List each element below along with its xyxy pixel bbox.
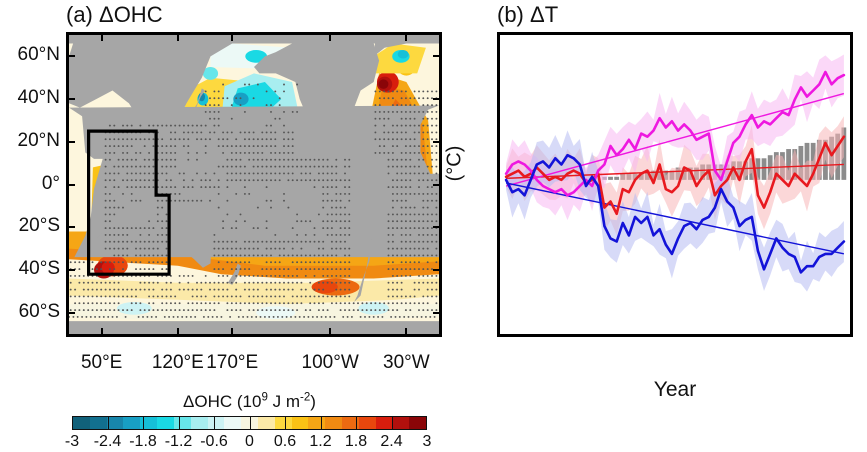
panel-b-title: (b) ΔT <box>497 2 558 28</box>
colorbar-segment <box>90 417 107 429</box>
colorbar-tick <box>179 416 180 430</box>
map-ytick <box>433 226 440 228</box>
colorbar-tick <box>108 416 109 430</box>
colorbar-segment <box>224 417 241 429</box>
colorbar-tick-label: -0.6 <box>200 433 228 451</box>
map-xtick <box>405 328 407 335</box>
map-xtick <box>405 34 407 41</box>
colorbar-title: ΔOHC (109 J m-2) <box>72 392 427 412</box>
colorbar-segment <box>275 417 292 429</box>
map-ytick-label: 20°S <box>0 215 60 237</box>
cb-title-prefix: ΔOHC (10 <box>183 392 261 411</box>
colorbar-tick-label: 0 <box>245 433 254 451</box>
map-ytick <box>433 312 440 314</box>
map-ytick <box>433 98 440 100</box>
map-xtick-label: 30°W <box>356 352 456 374</box>
colorbar-tick-label: 2.4 <box>380 433 402 451</box>
colorbar-tick <box>214 416 215 430</box>
map-ytick <box>68 226 75 228</box>
map-ytick <box>68 55 75 57</box>
colorbar-segment <box>174 417 191 429</box>
ohc-map-panel <box>66 32 442 337</box>
colorbar-tick <box>250 416 251 430</box>
map-ytick <box>433 141 440 143</box>
colorbar-segment <box>325 417 342 429</box>
map-xtick <box>101 328 103 335</box>
panel-b-ylabel: (°C) <box>443 146 466 182</box>
colorbar-segment <box>376 417 393 429</box>
panel-a-title: (a) ΔOHC <box>66 2 163 28</box>
map-ytick-label: 60°S <box>0 301 60 323</box>
colorbar-tick <box>356 416 357 430</box>
map-xtick <box>177 328 179 335</box>
colorbar-segment <box>292 417 309 429</box>
colorbar-segment <box>392 417 409 429</box>
panel-b-xlabel: Year <box>497 378 853 402</box>
colorbar-segment <box>359 417 376 429</box>
colorbar-segment <box>191 417 208 429</box>
colorbar-tick-label: -1.2 <box>165 433 193 451</box>
colorbar-segment <box>107 417 124 429</box>
colorbar-segment <box>409 417 426 429</box>
cb-title-exp2: -2 <box>300 391 310 403</box>
map-ytick <box>68 98 75 100</box>
map-ytick-label: 20°N <box>0 130 60 152</box>
colorbar-segment <box>258 417 275 429</box>
map-ytick-label: 0° <box>0 173 60 195</box>
map-ytick <box>68 312 75 314</box>
colorbar-tick-label: 1.2 <box>309 433 331 451</box>
cb-title-suffix: J m <box>268 392 300 411</box>
colorbar-tick-label: 3 <box>423 433 432 451</box>
map-ytick-label: 40°S <box>0 258 60 280</box>
map-xtick <box>177 34 179 41</box>
map-ytick <box>433 269 440 271</box>
colorbar-tick-label: -2.4 <box>94 433 122 451</box>
map-ytick-label: 60°N <box>0 44 60 66</box>
colorbar-segment <box>73 417 90 429</box>
map-ytick-label: 40°N <box>0 87 60 109</box>
map-ytick <box>433 184 440 186</box>
colorbar-tick <box>392 416 393 430</box>
map-ytick <box>68 141 75 143</box>
map-xtick <box>231 328 233 335</box>
map-xtick <box>231 34 233 41</box>
map-clip <box>69 35 439 334</box>
colorbar-tick-label: 1.8 <box>345 433 367 451</box>
map-xtick <box>101 34 103 41</box>
map-xtick-label: 170°E <box>182 352 282 374</box>
colorbar-tick-label: 0.6 <box>274 433 296 451</box>
colorbar-tick <box>285 416 286 430</box>
colorbar-segment <box>157 417 174 429</box>
map-ytick <box>433 55 440 57</box>
map-ytick <box>68 269 75 271</box>
map-xtick <box>329 34 331 41</box>
colorbar-tick <box>143 416 144 430</box>
cb-title-end: ) <box>310 392 316 411</box>
figure-root: (a) ΔOHC ΔOHC (109 J m-2) (b) ΔT (°C) Ye… <box>0 0 867 452</box>
map-xtick <box>329 328 331 335</box>
colorbar-tick-label: -1.8 <box>129 433 157 451</box>
colorbar-segment <box>308 417 325 429</box>
colorbar-tick <box>321 416 322 430</box>
colorbar-tick-label: -3 <box>65 433 79 451</box>
colorbar-segment <box>208 417 225 429</box>
temperature-timeseries-panel <box>497 32 853 337</box>
colorbar-segment <box>123 417 140 429</box>
map-ytick <box>68 184 75 186</box>
